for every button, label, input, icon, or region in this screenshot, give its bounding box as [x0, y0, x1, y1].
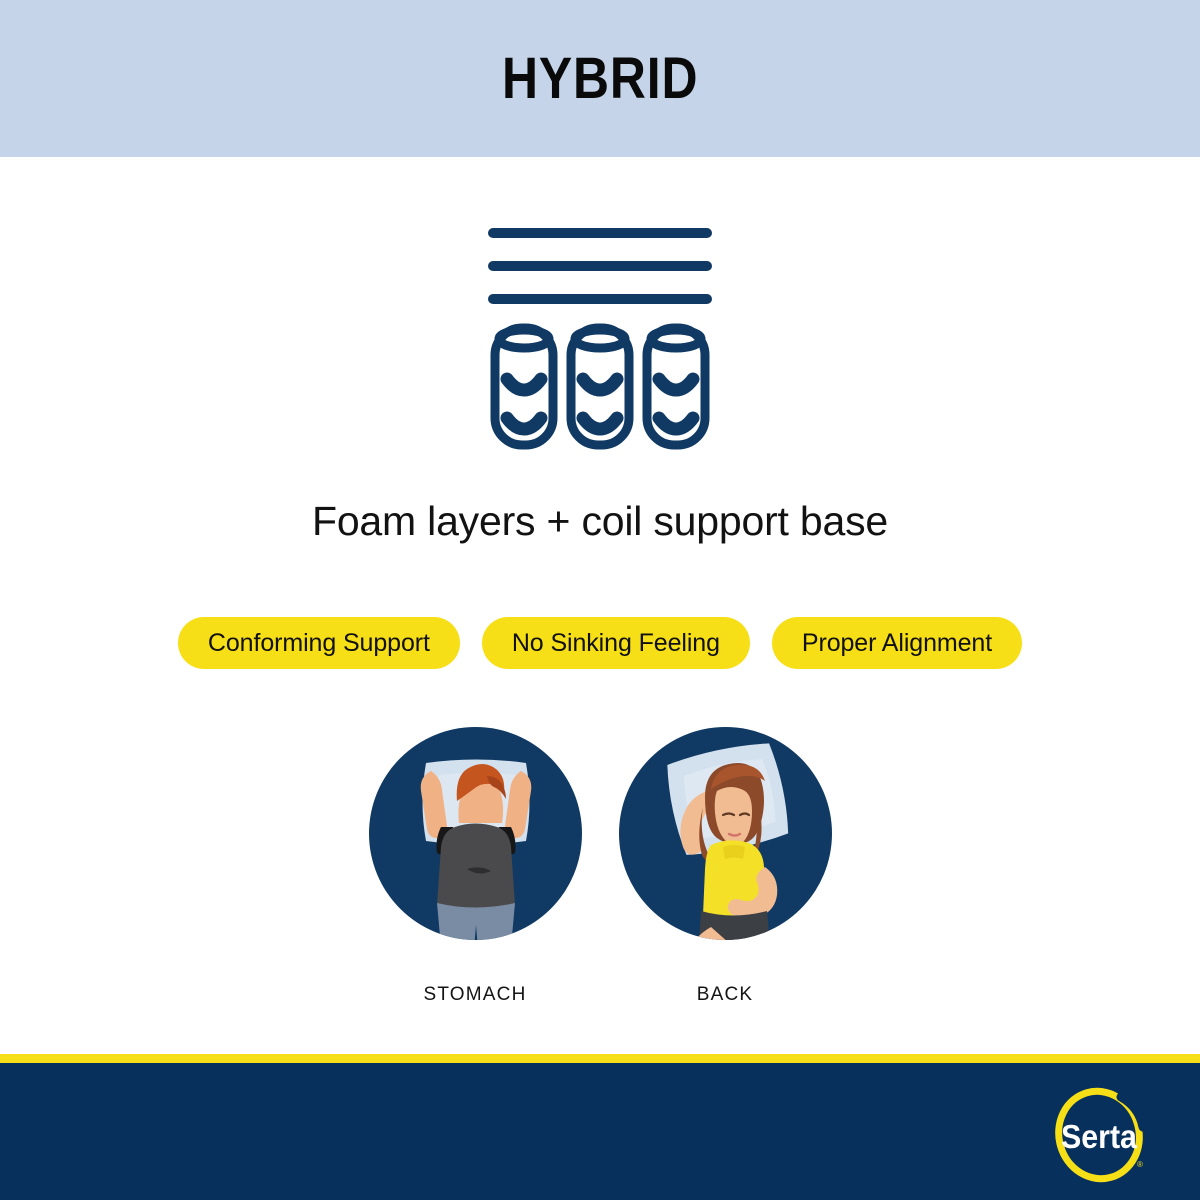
benefit-pill-conforming-support[interactable]: Conforming Support	[178, 617, 460, 669]
mattress-description: Foam layers + coil support base	[0, 498, 1200, 545]
logo-wordmark: Serta	[1061, 1118, 1137, 1155]
hybrid-mattress-icon-container	[0, 215, 1200, 460]
page-footer	[0, 1063, 1200, 1200]
head	[456, 764, 505, 823]
shorts	[437, 903, 515, 940]
stomach-sleeper-circle	[369, 727, 582, 940]
serta-logo-mark: Serta ®	[1047, 1085, 1155, 1185]
serta-logo[interactable]: Serta ®	[1047, 1085, 1155, 1185]
sleep-position-label-stomach: STOMACH	[423, 984, 526, 1006]
benefit-pill-proper-alignment[interactable]: Proper Alignment	[772, 617, 1022, 669]
coil-spring	[571, 328, 629, 445]
page-title: HYBRID	[502, 45, 698, 112]
benefit-pill-row: Conforming Support No Sinking Feeling Pr…	[0, 617, 1200, 669]
sleep-position-label-back: BACK	[697, 984, 754, 1006]
sleep-position-row: STOMACH	[0, 727, 1200, 1006]
coil-spring	[647, 328, 705, 445]
hybrid-mattress-icon	[485, 215, 715, 460]
sleep-position-stomach[interactable]: STOMACH	[369, 727, 582, 1006]
stomach-sleeper-illustration	[369, 727, 582, 940]
sleep-position-back[interactable]: BACK	[619, 727, 832, 1006]
back-sleeper-circle	[619, 727, 832, 940]
benefit-pill-no-sinking-feeling[interactable]: No Sinking Feeling	[482, 617, 750, 669]
footer-accent-stripe	[0, 1054, 1200, 1063]
coil-spring	[495, 328, 553, 445]
logo-trademark: ®	[1137, 1160, 1143, 1169]
shirt	[437, 824, 515, 910]
page-header: HYBRID	[0, 0, 1200, 157]
back-sleeper-illustration	[619, 727, 832, 940]
